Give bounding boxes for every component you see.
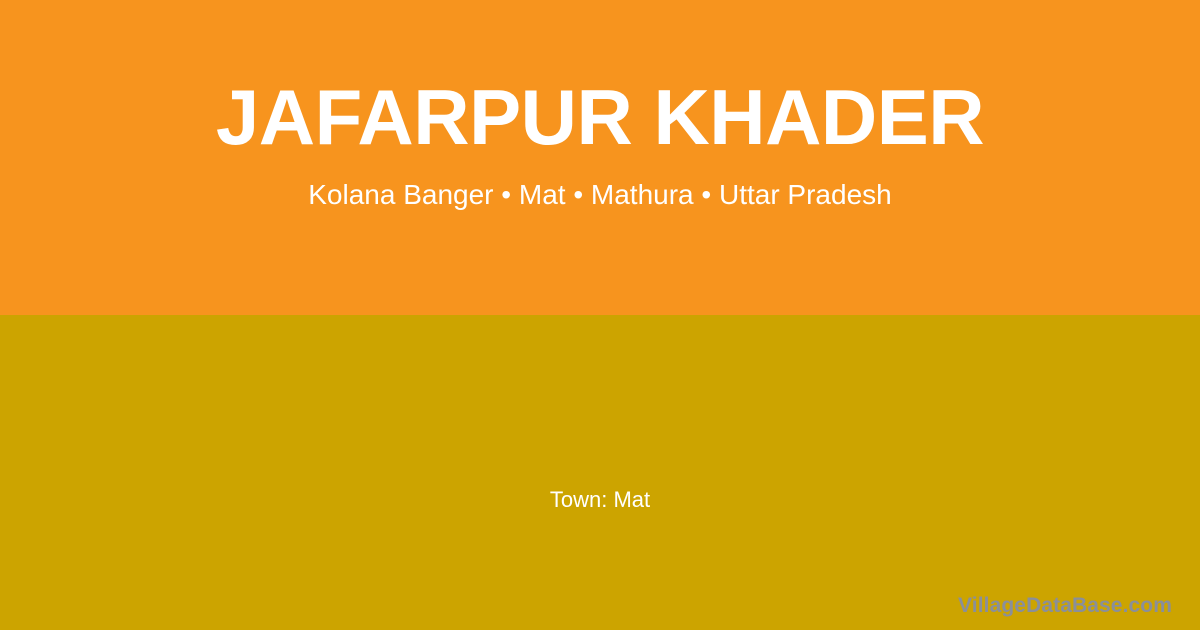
village-info-card: JAFARPUR KHADER Kolana Banger • Mat • Ma… bbox=[0, 0, 1200, 630]
hero-banner: JAFARPUR KHADER Kolana Banger • Mat • Ma… bbox=[0, 0, 1200, 315]
town-label: Town: Mat bbox=[0, 315, 1200, 513]
details-panel: Town: Mat VillageDataBase.com bbox=[0, 315, 1200, 630]
page-title: JAFARPUR KHADER bbox=[216, 78, 984, 156]
site-watermark: VillageDataBase.com bbox=[958, 594, 1172, 618]
breadcrumb: Kolana Banger • Mat • Mathura • Uttar Pr… bbox=[308, 178, 891, 212]
